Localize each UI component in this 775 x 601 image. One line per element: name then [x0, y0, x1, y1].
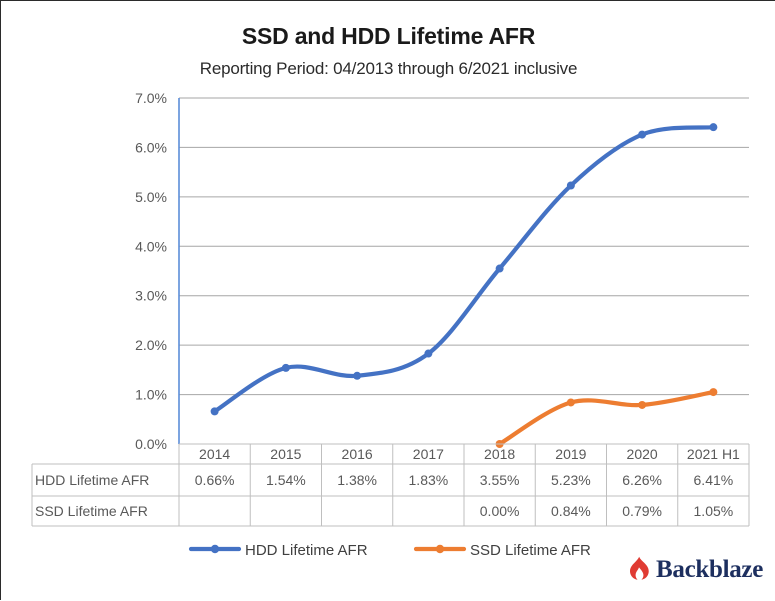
chart-container: SSD and HDD Lifetime AFR Reporting Perio…: [1, 1, 775, 601]
gridlines-group: [179, 98, 749, 444]
backblaze-logo: Backblaze: [628, 556, 763, 584]
series-line-ssd: [500, 392, 714, 444]
table-cell: 0.79%: [622, 503, 662, 519]
table-header-cell: 2016: [342, 446, 373, 462]
data-point: [709, 123, 717, 131]
chart-svg: 0.0%1.0%2.0%3.0%4.0%5.0%6.0%7.0% 2014201…: [1, 1, 775, 601]
data-point: [211, 407, 219, 415]
logo-wordmark: Backblaze: [656, 556, 763, 584]
table-cell: 1.83%: [409, 472, 449, 488]
table-cell: 0.66%: [195, 472, 235, 488]
table-cell: 1.38%: [337, 472, 377, 488]
y-axis-tick-label: 0.0%: [135, 436, 167, 452]
y-axis-tick-labels: 0.0%1.0%2.0%3.0%4.0%5.0%6.0%7.0%: [135, 90, 167, 452]
table-header-cell: 2018: [484, 446, 515, 462]
table-cell: 6.26%: [622, 472, 662, 488]
y-axis-tick-label: 1.0%: [135, 387, 167, 403]
table-header-cell: 2019: [555, 446, 586, 462]
data-point: [353, 372, 361, 380]
table-cell: 1.05%: [694, 503, 734, 519]
data-point: [709, 388, 717, 396]
table-header-cell: 2017: [413, 446, 444, 462]
table-header-cell: 2014: [199, 446, 230, 462]
data-table: 20142015201620172018201920202021 H1HDD L…: [32, 444, 749, 526]
data-point: [567, 181, 575, 189]
y-axis-tick-label: 4.0%: [135, 238, 167, 254]
table-cell: 0.00%: [480, 503, 520, 519]
y-axis-tick-label: 7.0%: [135, 90, 167, 106]
table-header-cell: 2015: [270, 446, 301, 462]
flame-icon: [628, 556, 650, 584]
legend-label[interactable]: SSD Lifetime AFR: [470, 542, 591, 559]
legend-label[interactable]: HDD Lifetime AFR: [245, 542, 368, 559]
table-cell: 5.23%: [551, 472, 591, 488]
data-point: [638, 131, 646, 139]
chart-legend[interactable]: HDD Lifetime AFRSSD Lifetime AFR: [191, 542, 591, 559]
data-point: [638, 401, 646, 409]
data-point: [282, 364, 290, 372]
y-axis-tick-label: 3.0%: [135, 288, 167, 304]
table-row-label: SSD Lifetime AFR: [35, 503, 148, 519]
y-axis-tick-label: 2.0%: [135, 337, 167, 353]
legend-marker-dot[interactable]: [436, 545, 444, 553]
table-cell: 3.55%: [480, 472, 520, 488]
y-axis-tick-label: 5.0%: [135, 189, 167, 205]
data-series-group: [211, 123, 718, 448]
table-cell: 0.84%: [551, 503, 591, 519]
legend-marker-dot[interactable]: [211, 545, 219, 553]
table-header-cell: 2021 H1: [687, 446, 740, 462]
data-point: [567, 398, 575, 406]
data-point: [424, 350, 432, 358]
table-cell: 1.54%: [266, 472, 306, 488]
table-row-label: HDD Lifetime AFR: [35, 472, 149, 488]
table-header-cell: 2020: [627, 446, 658, 462]
data-point: [496, 265, 504, 273]
table-cell: 6.41%: [694, 472, 734, 488]
y-axis-tick-label: 6.0%: [135, 139, 167, 155]
